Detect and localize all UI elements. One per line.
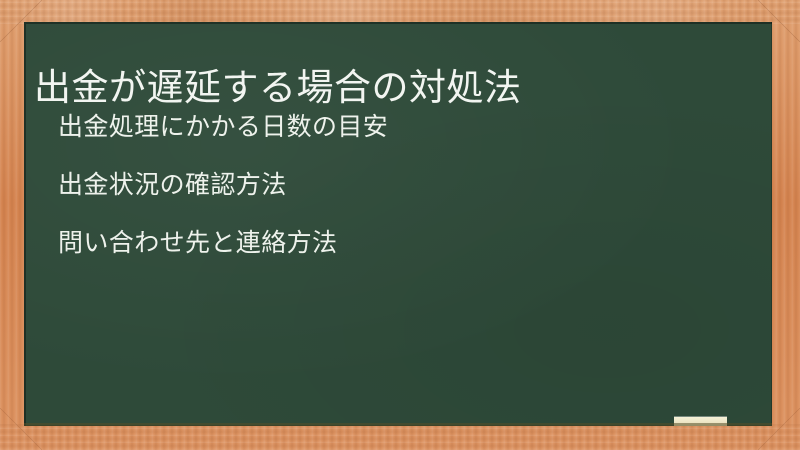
list-item: 問い合わせ先と連絡方法 bbox=[34, 228, 754, 258]
frame-grain-streaks bbox=[0, 0, 800, 24]
frame-grain-top bbox=[0, 0, 800, 24]
list-item: 出金状況の確認方法 bbox=[34, 170, 754, 200]
list-item: 出金処理にかかる日数の目安 bbox=[34, 112, 754, 142]
frame-grain-bottom bbox=[0, 424, 800, 450]
board-bottom-ledge bbox=[24, 423, 772, 426]
wooden-frame: 出金が遅延する場合の対処法 出金処理にかかる日数の目安 出金状況の確認方法 問い… bbox=[0, 0, 800, 450]
page-title: 出金が遅延する場合の対処法 bbox=[34, 67, 754, 110]
chalkboard-surface: 出金が遅延する場合の対処法 出金処理にかかる日数の目安 出金状況の確認方法 問い… bbox=[24, 22, 772, 426]
topic-list: 出金処理にかかる日数の目安 出金状況の確認方法 問い合わせ先と連絡方法 bbox=[34, 112, 754, 286]
